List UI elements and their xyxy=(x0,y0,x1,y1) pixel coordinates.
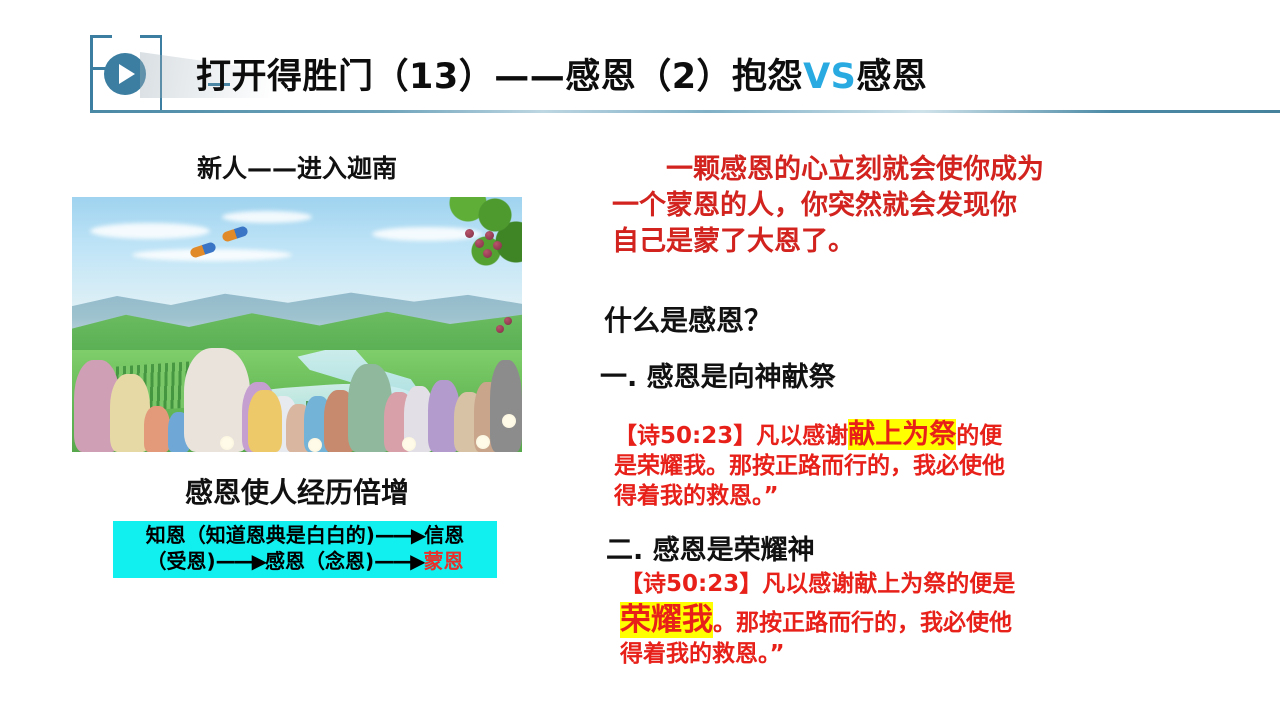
verse2-part1: 凡以感谢献上为祭的便是 xyxy=(762,571,1015,597)
page-title: 打开得胜门（13）——感恩（2）抱怨VS感恩 xyxy=(196,48,927,99)
quote-line-1: 一颗感恩的心立刻就会使你成为 xyxy=(666,154,1044,185)
person xyxy=(490,360,522,452)
flow-mengen: 蒙恩 xyxy=(424,549,464,573)
frame-top-left xyxy=(90,35,112,38)
verse2-line3: 得着我的救恩。” xyxy=(620,640,1180,670)
grape xyxy=(465,229,474,238)
person xyxy=(184,348,250,452)
grape xyxy=(483,249,492,258)
header-divider xyxy=(90,110,1280,113)
verse1-part2: 的便 xyxy=(956,423,1002,449)
scripture-reference: 【诗50:23】 xyxy=(620,571,762,597)
flow-line-2: （受恩)——▶感恩（念恩)——▶蒙恩 xyxy=(117,549,493,575)
question-heading: 什么是感恩？ xyxy=(604,299,772,339)
play-circle-icon xyxy=(104,53,146,95)
grape xyxy=(475,239,484,248)
quote-block: 一颗感恩的心立刻就会使你成为 一个蒙恩的人，你突然就会发现你 自己是蒙了大恩了。 xyxy=(612,152,1172,261)
flower xyxy=(402,437,416,451)
left-section-title: 新人——进入迦南 xyxy=(72,149,522,185)
grapevine xyxy=(378,197,522,341)
grape xyxy=(493,241,502,250)
verse2-line2: 荣耀我。那按正路而行的，我必使他 xyxy=(620,600,1180,640)
flower xyxy=(502,414,516,428)
canaan-landscape-image xyxy=(72,197,522,452)
verse2-part2: 。那按正路而行的，我必使他 xyxy=(713,610,1012,636)
verse2-highlight: 荣耀我 xyxy=(620,602,713,638)
play-triangle-icon xyxy=(119,64,135,84)
frame-right xyxy=(160,35,163,111)
flower xyxy=(476,435,490,449)
section-2-title: 二. 感恩是荣耀神 xyxy=(606,528,815,567)
scripture-reference: 【诗50:23】 xyxy=(614,423,756,449)
arrow-icon: ——▶ xyxy=(216,549,265,573)
grape xyxy=(504,317,512,325)
flow-ganen: 感恩（念恩) xyxy=(265,549,374,573)
cloud xyxy=(222,211,312,223)
flower xyxy=(308,438,322,452)
section-1-title: 一. 感恩是向神献祭 xyxy=(600,355,836,394)
person xyxy=(144,406,170,452)
arrow-icon: ——▶ xyxy=(374,549,423,573)
verse1-part1: 凡以感谢 xyxy=(756,423,848,449)
person xyxy=(248,390,282,452)
scripture-block-1: 【诗50:23】凡以感谢献上为祭的便 是荣耀我。那按正路而行的，我必使他 得着我… xyxy=(614,417,1180,512)
title-vs: VS xyxy=(803,57,856,97)
verse1-line2: 是荣耀我。那按正路而行的，我必使他 xyxy=(614,452,1180,482)
image-caption: 感恩使人经历倍增 xyxy=(72,471,522,511)
slide-root: 打开得胜门（13）——感恩（2）抱怨VS感恩 新人——进入迦南 xyxy=(0,0,1280,720)
scripture-block-2: 【诗50:23】凡以感谢献上为祭的便是 荣耀我。那按正路而行的，我必使他 得着我… xyxy=(620,570,1180,670)
arrow-icon: ——▶ xyxy=(375,523,424,547)
grace-flow-diagram: 知恩（知道恩典是白白的)——▶信恩 （受恩)——▶感恩（念恩)——▶蒙恩 xyxy=(113,521,497,578)
crowd-of-people xyxy=(72,340,522,452)
verse1-highlight: 献上为祭 xyxy=(848,419,956,450)
title-main: 打开得胜门（13）——感恩（2）抱怨 xyxy=(196,57,803,97)
quote-line-2: 一个蒙恩的人，你突然就会发现你 xyxy=(612,190,1017,221)
flow-xinen: 信恩 xyxy=(424,523,464,547)
quote-line-3: 自己是蒙了大恩了。 xyxy=(612,226,855,257)
grape xyxy=(496,325,504,333)
frame-left xyxy=(90,35,93,111)
play-button-icon xyxy=(90,35,162,111)
flow-zhien: 知恩（知道恩典是白白的) xyxy=(146,523,375,547)
verse1-line3: 得着我的救恩。” xyxy=(614,482,1180,512)
cloud xyxy=(90,223,210,239)
flow-line-1: 知恩（知道恩典是白白的)——▶信恩 xyxy=(117,523,493,549)
flow-shouen: （受恩) xyxy=(146,549,215,573)
title-tail: 感恩 xyxy=(856,57,927,97)
grape xyxy=(485,231,494,240)
flower xyxy=(220,436,234,450)
